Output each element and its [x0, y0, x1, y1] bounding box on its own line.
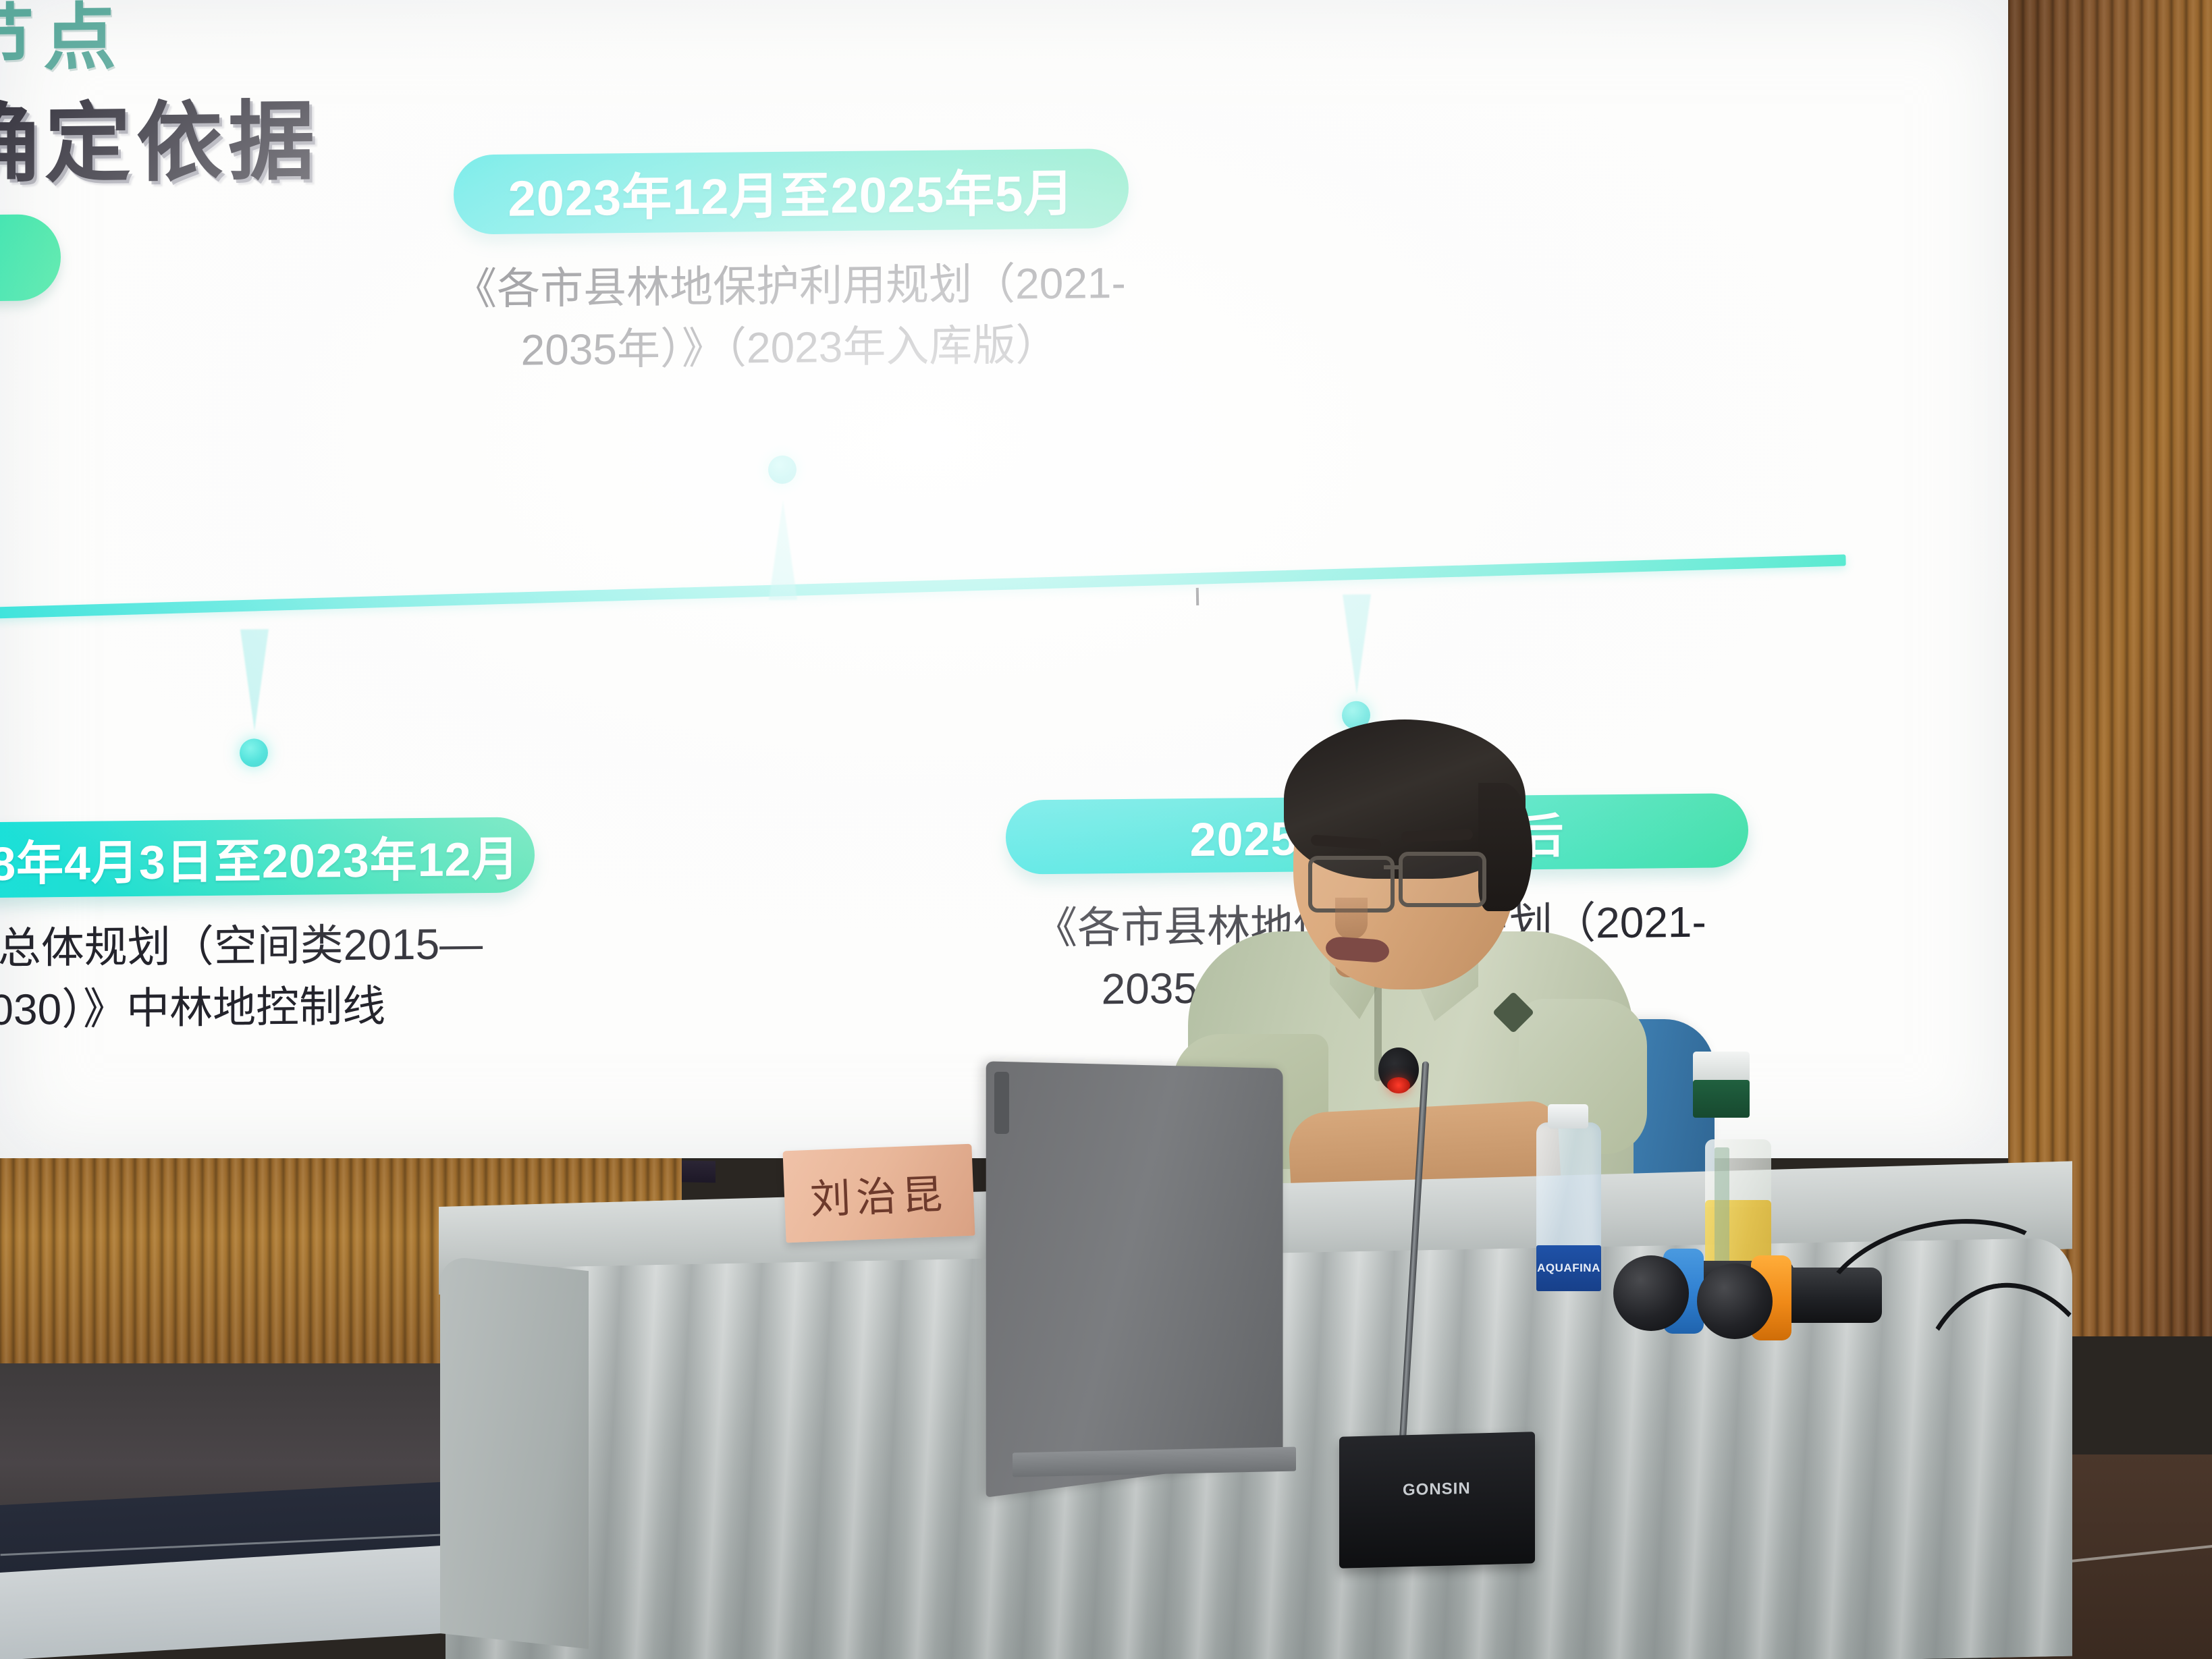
- conference-mic-unit[interactable]: [1339, 1432, 1535, 1569]
- speaker-nose: [1335, 898, 1368, 940]
- timeline-connector-bottom-right: [1343, 595, 1371, 695]
- glasses-bridge-icon: [1384, 865, 1403, 869]
- projection-screen: 节点 确定依据 2023年12月至2025年5月 《各市县林地保护利用规划（20…: [0, 0, 2008, 1158]
- name-placard: 刘治昆: [782, 1144, 975, 1243]
- timeline-connector-bottom-left: [240, 629, 269, 730]
- desk-tablecloth-left-fold: [440, 1255, 589, 1649]
- water-bottle-cap: [1548, 1104, 1588, 1128]
- laptop-lid[interactable]: [986, 1061, 1283, 1497]
- mic-active-indicator-light: [1387, 1077, 1410, 1093]
- timeline-badge-bottom-left: 2018年4月3日至2023年12月: [0, 817, 535, 898]
- timeline-axis-line: [0, 554, 1846, 619]
- handheld-mic-orange-capsule-icon: [1697, 1263, 1773, 1339]
- laptop-hinge: [994, 1072, 1009, 1134]
- timeline-badge-top: 2023年12月至2025年5月: [454, 148, 1129, 235]
- decorative-green-pill: [0, 214, 61, 302]
- water-bottle-brand-text: AQUAFINA: [1537, 1261, 1600, 1275]
- tea-bottle-lid: [1693, 1052, 1750, 1083]
- slide-heading-dark: 确定依据: [0, 71, 320, 199]
- slide-content: 节点 确定依据 2023年12月至2025年5月 《各市县林地保护利用规划（20…: [0, 0, 2008, 1158]
- name-placard-text: 刘治昆: [809, 1162, 948, 1226]
- timeline-connector-top: [769, 500, 797, 600]
- glasses-lens-right-icon: [1399, 852, 1486, 907]
- tea-bottle-collar: [1693, 1080, 1750, 1118]
- timeline-tick-mark: [1196, 588, 1199, 605]
- timeline-dot-top: [768, 456, 797, 484]
- conference-mic-brand-label: GONSIN: [1403, 1479, 1471, 1500]
- timeline-dot-bottom-left: [240, 738, 268, 767]
- wood-slat-wall: [2008, 0, 2212, 1336]
- screenshot-root: 节点 确定依据 2023年12月至2025年5月 《各市县林地保护利用规划（20…: [0, 0, 2212, 1659]
- timeline-caption-top: 《各市县林地保护利用规划（2021- 2035年）》（2023年入库版）: [378, 252, 1202, 382]
- handheld-mic-blue-capsule-icon: [1613, 1255, 1689, 1331]
- timeline-caption-bottom-left: 各市县总体规划（空间类2015— 2030）》中林地控制线: [0, 913, 543, 1042]
- water-bottle-label: AQUAFINA: [1536, 1245, 1601, 1291]
